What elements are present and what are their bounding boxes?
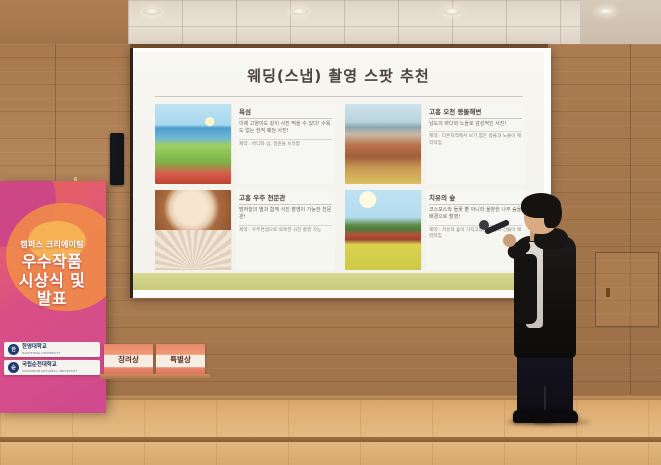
- card-note: 제약 : 우주컨셉으로 독특한 사진 촬영 가능: [239, 225, 332, 234]
- presenter-arm: [516, 254, 537, 324]
- card-body: 이제 고양이도 같이 사진 찍을 수 있다! 수욕도 없는 한적 웨딩 사진!: [239, 121, 332, 136]
- logo-subtitle: SUNCHEON NATIONAL UNIVERSITY: [22, 369, 78, 373]
- mudflat-sunset-photo: [345, 104, 421, 184]
- microphone-head: [479, 220, 489, 230]
- logo-subtitle: HANYEONG UNIVERSITY: [22, 351, 60, 355]
- card-heading: 고흥 오천 몽돌해변: [429, 106, 522, 119]
- card-text: 욕섬 이제 고양이도 같이 사진 찍을 수 있다! 수욕도 없는 한적 웨딩 사…: [236, 104, 335, 184]
- access-panel-handle[interactable]: [606, 288, 610, 297]
- banner-line-1: 우수작품: [0, 253, 106, 272]
- wall-speaker: [110, 133, 124, 185]
- ceiling-downlight: [443, 8, 461, 15]
- coastal-sea-photo: [155, 104, 231, 184]
- presenter-hair: [544, 198, 562, 228]
- award-placard: 장려상: [104, 344, 153, 375]
- wall-access-panel: [595, 252, 659, 327]
- award-placard-group: 장려상 특별상: [104, 344, 205, 375]
- card-heading: 욕섬: [239, 106, 332, 119]
- auditorium-scene: 웨딩(스냅) 촬영 스팟 추천 욕섬 이제 고양이도 같이 사진 찍을 수 있다…: [0, 0, 661, 465]
- flower-field-cabins-photo: [345, 190, 421, 270]
- shield-icon: 한: [8, 344, 19, 355]
- ceiling-right-soffit: [580, 0, 661, 46]
- ceiling-downlight: [290, 8, 308, 15]
- banner-line-2: 시상식 및: [0, 272, 106, 291]
- card-note: 제약 : 바다와 섬, 정원을 보유함: [239, 139, 332, 148]
- presenter-hand: [503, 234, 516, 247]
- placard-label: 특별상: [170, 354, 191, 365]
- moon-and-observatory-photo: [155, 190, 231, 270]
- banner-text-block: 캠퍼스 크리에이팅 우수작품 시상식 및 발표: [0, 239, 106, 309]
- slide-card: 치유의 숲 코스모스와 들꽃 뿐 아니라 울창한 나무 숲을 배경으로 촬영! …: [345, 190, 525, 270]
- slide-bottom-band: [133, 273, 544, 290]
- card-body: 남도의 바다와 노을로 감성적인 사진!: [429, 121, 522, 128]
- placard-table-edge: [100, 374, 210, 379]
- banner-subtitle: 캠퍼스 크리에이팅: [0, 239, 106, 250]
- award-placard: 특별상: [156, 344, 205, 375]
- banner-line-3: 발표: [0, 290, 106, 309]
- wall-seam: [630, 44, 631, 394]
- slide-card: 고흥 오천 몽돌해변 남도의 바다와 노을로 감성적인 사진! 제약 : 다른지…: [345, 104, 525, 184]
- university-logo-hanyeong: 한 한영대학교 HANYEONG UNIVERSITY: [4, 342, 100, 357]
- observatory-dome-photo: [155, 230, 231, 270]
- card-text: 고흥 우주 천문관 밤하늘의 별과 함께 사진 촬영이 가능한 천문관! 제약 …: [236, 190, 335, 270]
- slide-card-grid: 욕섬 이제 고양이도 같이 사진 찍을 수 있다! 수욕도 없는 한적 웨딩 사…: [155, 104, 525, 270]
- slide-card: 고흥 우주 천문관 밤하늘의 별과 함께 사진 촬영이 가능한 천문관! 제약 …: [155, 190, 335, 270]
- floor-trim-strip: [0, 437, 661, 442]
- university-logo-sunchon: 순 국립순천대학교 SUNCHEON NATIONAL UNIVERSITY: [4, 360, 100, 375]
- slide-card: 욕섬 이제 고양이도 같이 사진 찍을 수 있다! 수욕도 없는 한적 웨딩 사…: [155, 104, 335, 184]
- presenter-shoe: [534, 410, 578, 423]
- ceiling-downlight: [597, 8, 615, 15]
- shield-icon: 순: [8, 362, 19, 373]
- card-text: 고흥 오천 몽돌해변 남도의 바다와 노을로 감성적인 사진! 제약 : 다른지…: [426, 104, 525, 184]
- presenter: [500, 196, 592, 424]
- placard-label: 장려상: [118, 354, 139, 365]
- presentation-slide: 웨딩(스냅) 촬영 스팟 추천 욕섬 이제 고양이도 같이 사진 찍을 수 있다…: [133, 52, 544, 290]
- slide-title: 웨딩(스냅) 촬영 스팟 추천: [133, 65, 544, 86]
- ceiling-downlight: [143, 8, 161, 15]
- banner-logo-group: 한 한영대학교 HANYEONG UNIVERSITY 순 국립순천대학교 SU…: [4, 342, 100, 378]
- moon-photo: [155, 190, 231, 230]
- card-body: 밤하늘의 별과 함께 사진 촬영이 가능한 천문관!: [239, 207, 332, 222]
- card-note: 제약 : 다른지역에서 보기 힘든 몽돌과 노을이 매력적임: [429, 131, 522, 147]
- title-divider: [155, 96, 523, 97]
- rollup-banner: 캠퍼스 크리에이팅 우수작품 시상식 및 발표 한 한영대학교 HANYEONG…: [0, 181, 106, 413]
- card-heading: 고흥 우주 천문관: [239, 192, 332, 205]
